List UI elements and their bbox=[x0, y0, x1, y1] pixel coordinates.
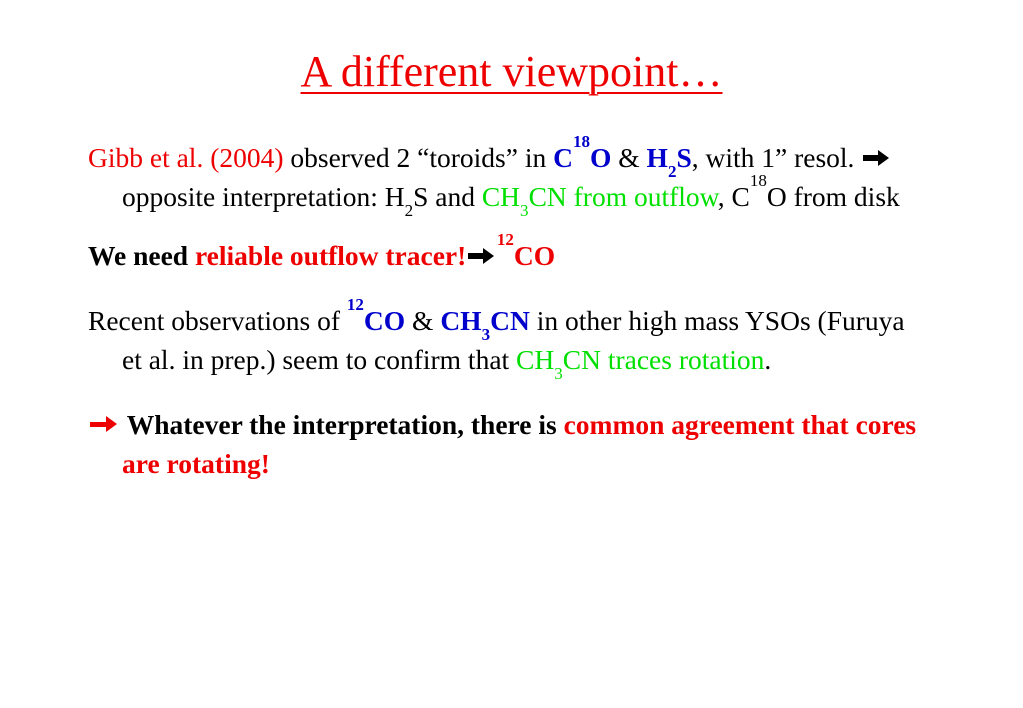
gibb-text-and: S and bbox=[413, 181, 482, 212]
page-title-text: A different viewpoint… bbox=[301, 47, 723, 96]
ch3cn-subscript-blue: 3 bbox=[482, 325, 491, 344]
slide-body: Gibb et al. (2004) observed 2 “toroids” … bbox=[88, 138, 918, 503]
arrow-right-icon bbox=[90, 414, 118, 435]
molecule-ch3cn-outflow: CH3CN from outflow bbox=[482, 181, 718, 212]
co12-superscript-blue: 12 bbox=[347, 295, 364, 314]
paragraph-we-need: We need reliable outflow tracer!12CO bbox=[88, 236, 918, 275]
slide: A different viewpoint… Gibb et al. (2004… bbox=[0, 0, 1023, 708]
gibb-text-resol: , with 1” resol. bbox=[692, 142, 862, 173]
conclusion-text-whatever: Whatever the interpretation, there is bbox=[120, 409, 563, 440]
arrow-right-icon bbox=[468, 246, 494, 266]
co12-co: CO bbox=[514, 240, 555, 271]
gibb-text-observed: observed 2 “toroids” in bbox=[284, 142, 554, 173]
ch3cn-subscript-green: 3 bbox=[554, 364, 563, 383]
recent-text-intro: Recent observations of bbox=[88, 305, 347, 336]
h2s-h: H bbox=[647, 142, 668, 173]
arrow-right-icon bbox=[863, 148, 889, 168]
molecule-h2s-blue: H2S bbox=[647, 142, 692, 173]
paragraph-conclusion: Whatever the interpretation, there is co… bbox=[88, 405, 918, 483]
c18o-o: O bbox=[590, 142, 611, 173]
molecule-ch3cn-blue: CH3CN bbox=[440, 305, 530, 336]
gibb-text-amp: & bbox=[611, 142, 646, 173]
molecule-12co-blue: 12CO bbox=[347, 305, 405, 336]
ch3cn-ch-green: CH bbox=[516, 344, 554, 375]
ch3cn-traces-rotation: CN traces rotation bbox=[563, 344, 765, 375]
we-need-exclamation: ! bbox=[457, 240, 466, 271]
c18o-superscript: 18 bbox=[573, 132, 590, 151]
h2s-subscript: 2 bbox=[668, 162, 677, 181]
ch3cn-outflow-rest: CN from outflow bbox=[529, 181, 718, 212]
co12-superscript: 12 bbox=[497, 230, 514, 249]
recent-text-period: . bbox=[764, 344, 771, 375]
h2s-s: S bbox=[676, 142, 691, 173]
recent-text-amp: & bbox=[405, 305, 440, 336]
page-title: A different viewpoint… bbox=[0, 48, 1023, 96]
gibb-text-c18o-2: , C bbox=[718, 181, 750, 212]
paragraph-gibb: Gibb et al. (2004) observed 2 “toroids” … bbox=[88, 138, 918, 216]
co12-co-blue: CO bbox=[364, 305, 405, 336]
h2s-subscript-black: 2 bbox=[405, 201, 414, 220]
molecule-c18o-1: C18O bbox=[553, 142, 611, 173]
ch3cn-ch: CH bbox=[482, 181, 520, 212]
gibb-text-interpretation: opposite interpretation: H bbox=[122, 181, 405, 212]
molecule-12co-red: 12CO bbox=[497, 240, 555, 271]
ch3cn-ch-blue: CH bbox=[440, 305, 481, 336]
gibb-text-from-disk: O from disk bbox=[767, 181, 900, 212]
c18o-c: C bbox=[553, 142, 573, 173]
c18o-superscript-black: 18 bbox=[750, 171, 767, 190]
ch3cn-subscript: 3 bbox=[520, 201, 529, 220]
molecule-ch3cn-rotation: CH3CN traces rotation bbox=[516, 344, 764, 375]
citation-gibb: Gibb et al. (2004) bbox=[88, 142, 284, 173]
we-need-label: We need bbox=[88, 240, 195, 271]
paragraph-recent-observations: Recent observations of 12CO & CH3CN in o… bbox=[88, 301, 918, 379]
reliable-outflow-tracer: reliable outflow tracer bbox=[195, 240, 457, 271]
ch3cn-cn-blue: CN bbox=[490, 305, 530, 336]
